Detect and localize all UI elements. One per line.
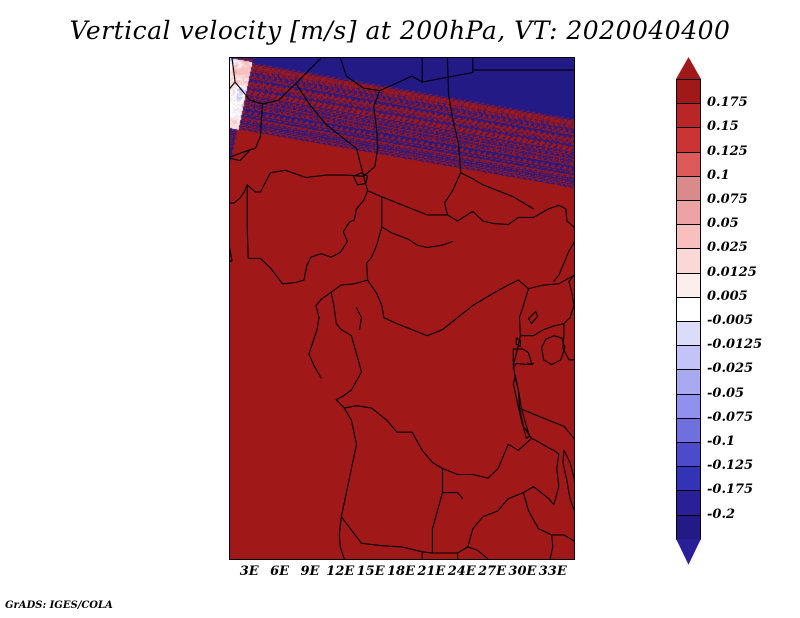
border-paths [230, 58, 574, 559]
colorbar-swatch [676, 127, 701, 152]
colorbar-tick-label: -0.1 [707, 435, 735, 448]
colorbar-tick-label: 0.025 [707, 241, 748, 254]
y-axis-tick [229, 396, 230, 397]
colorbar-tick-label: -0.125 [707, 459, 753, 472]
colorbar-swatch [676, 418, 701, 443]
x-axis-label: 33E [533, 564, 573, 579]
colorbar-tick-label: -0.005 [707, 314, 753, 327]
colorbar-swatch [676, 273, 701, 298]
y-axis-tick [229, 94, 230, 95]
colorbar-swatch [676, 103, 701, 128]
map-plot-area [229, 57, 575, 560]
colorbar-swatch [676, 515, 701, 540]
colorbar: 0.1750.150.1250.10.0750.050.0250.01250.0… [672, 57, 792, 562]
colorbar-tick-label: 0.125 [707, 145, 748, 158]
colorbar-swatch [676, 369, 701, 394]
colorbar-swatch [676, 248, 701, 273]
colorbar-tick-label: -0.2 [707, 508, 735, 521]
colorbar-swatch [676, 345, 701, 370]
x-axis-tick [402, 559, 403, 560]
x-axis-tick [250, 559, 251, 560]
x-axis-tick [493, 559, 494, 560]
colorbar-tick-label: -0.025 [707, 362, 753, 375]
colorbar-tick-label: 0.075 [707, 193, 748, 206]
colorbar-tick-label: -0.075 [707, 411, 753, 424]
colorbar-tick-label: 0.0125 [707, 266, 757, 279]
y-axis-tick [229, 456, 230, 457]
y-axis-tick [229, 517, 230, 518]
colorbar-swatch [676, 224, 701, 249]
colorbar-swatch [676, 176, 701, 201]
colorbar-swatch [676, 321, 701, 346]
x-axis-tick [281, 559, 282, 560]
x-axis-tick [463, 559, 464, 560]
colorbar-swatch [676, 297, 701, 322]
colorbar-tick-label: 0.15 [707, 120, 739, 133]
colorbar-swatch [676, 442, 701, 467]
colorbar-swatch [676, 394, 701, 419]
country-borders-overlay [230, 58, 574, 559]
grads-attribution: GrADS: IGES/COLA [5, 600, 113, 611]
y-axis-tick [229, 275, 230, 276]
y-axis-tick [229, 215, 230, 216]
x-axis-tick [311, 559, 312, 560]
colorbar-swatch [676, 200, 701, 225]
colorbar-tick-label: 0.005 [707, 290, 748, 303]
y-axis-tick [229, 336, 230, 337]
x-axis-tick [341, 559, 342, 560]
y-axis-tick [229, 155, 230, 156]
colorbar-tick-label: 0.05 [707, 217, 739, 230]
colorbar-cap-low [676, 539, 701, 565]
colorbar-tick-label: -0.175 [707, 483, 753, 496]
colorbar-swatch [676, 152, 701, 177]
colorbar-swatch [676, 490, 701, 515]
page-title: Vertical velocity [m/s] at 200hPa, VT: 2… [0, 16, 800, 45]
x-axis-tick [554, 559, 555, 560]
x-axis-tick [432, 559, 433, 560]
colorbar-cap-high [676, 57, 701, 79]
colorbar-tick-label: 0.1 [707, 169, 730, 182]
colorbar-swatch [676, 466, 701, 491]
x-axis-tick [523, 559, 524, 560]
colorbar-swatch [676, 79, 701, 104]
x-axis-tick [372, 559, 373, 560]
colorbar-tick-label: -0.05 [707, 387, 744, 400]
colorbar-tick-label: 0.175 [707, 96, 748, 109]
colorbar-tick-label: -0.0125 [707, 338, 762, 351]
